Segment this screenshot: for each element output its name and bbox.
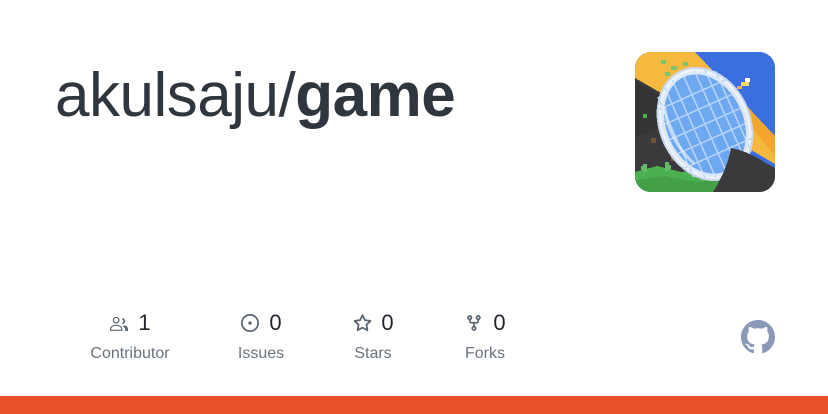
- stat-contributors-value: 1: [138, 312, 150, 334]
- stat-stars-label: Stars: [354, 345, 391, 363]
- repo-owner: akulsaju: [55, 61, 278, 130]
- star-icon: [352, 313, 372, 333]
- stat-forks-label: Forks: [465, 345, 505, 363]
- github-mark-icon: [741, 320, 775, 354]
- stat-forks-top: 0: [464, 310, 505, 336]
- repo-full-name: akulsaju/game: [55, 60, 615, 132]
- stat-forks-value: 0: [493, 312, 505, 334]
- stat-contributors-top: 1: [109, 310, 150, 336]
- stat-stars: 0 Stars: [317, 310, 429, 363]
- stat-stars-value: 0: [381, 312, 393, 334]
- stat-issues-label: Issues: [238, 345, 284, 363]
- page-title: akulsaju/game: [55, 60, 615, 132]
- repo-forked-icon: [464, 313, 484, 333]
- stat-contributors: 1 Contributor: [55, 310, 205, 363]
- repository-social-card: akulsaju/game: [0, 0, 828, 414]
- repo-name-separator: /: [278, 61, 295, 130]
- stat-issues-value: 0: [269, 312, 281, 334]
- issue-opened-icon: [240, 313, 260, 333]
- stat-stars-top: 0: [352, 310, 393, 336]
- bottom-accent-bar: [0, 396, 828, 414]
- repository-stats: 1 Contributor 0 Issues: [55, 310, 541, 363]
- repository-thumbnail: [635, 52, 775, 192]
- repo-name: game: [295, 61, 455, 130]
- repository-thumbnail-art: [635, 52, 775, 192]
- stat-forks: 0 Forks: [429, 310, 541, 363]
- stat-issues-top: 0: [240, 310, 281, 336]
- stat-issues: 0 Issues: [205, 310, 317, 363]
- people-icon: [109, 313, 129, 333]
- stat-contributors-label: Contributor: [90, 345, 169, 363]
